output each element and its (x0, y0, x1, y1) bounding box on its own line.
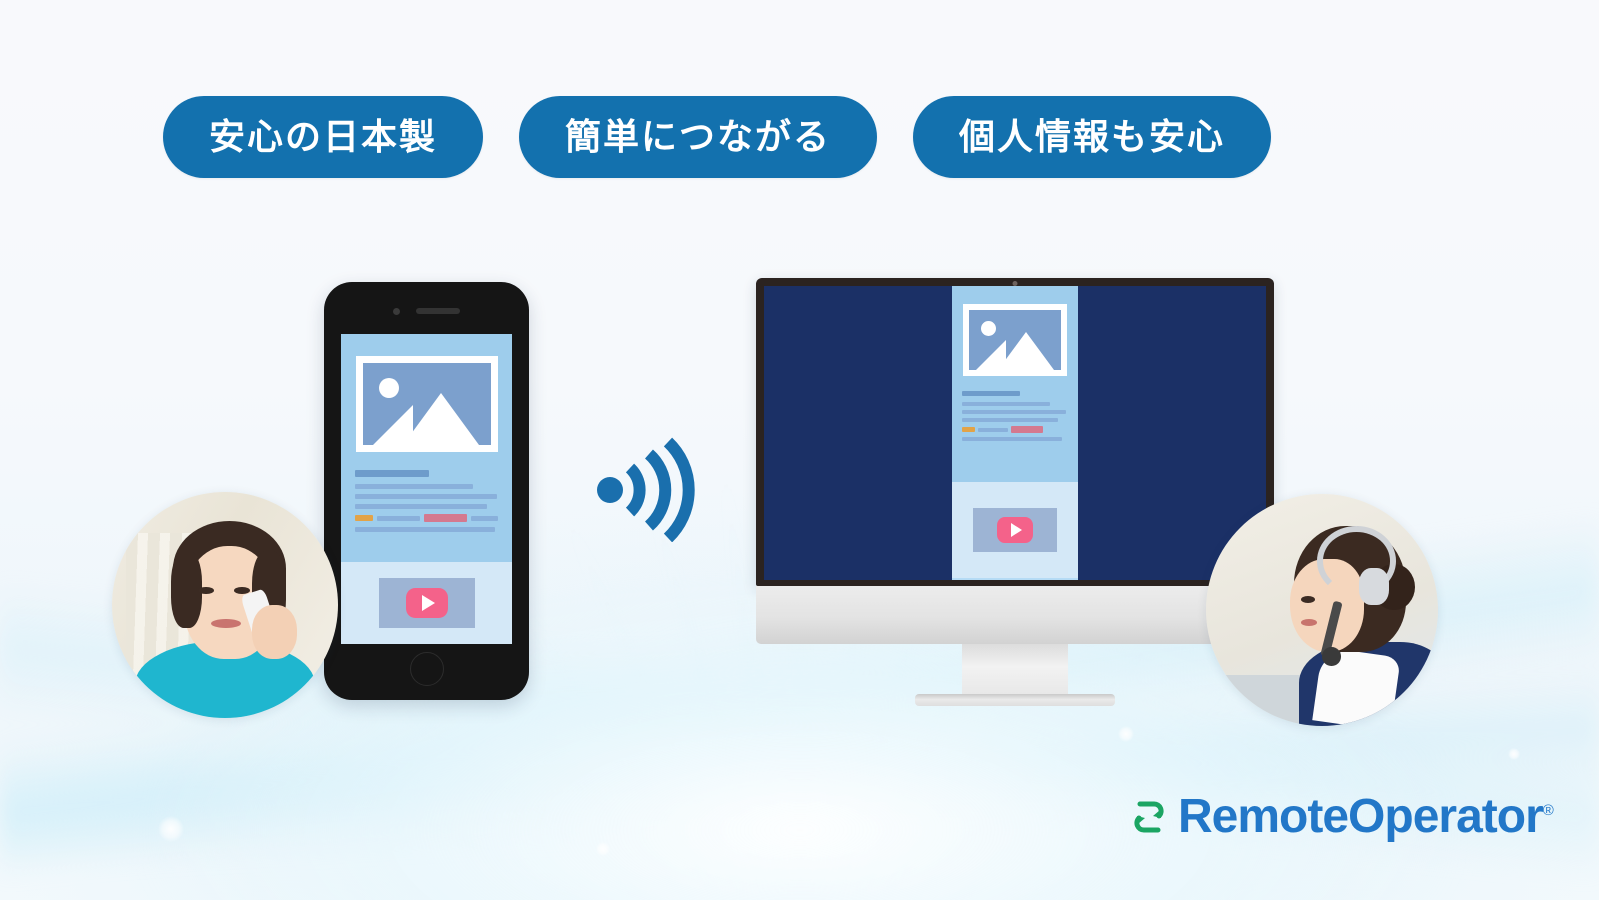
image-placeholder-icon (356, 356, 498, 452)
phone-text-lines (355, 470, 498, 532)
logo-wordmark: RemoteOperator® (1178, 793, 1553, 841)
mirror-page-bottom (952, 482, 1078, 578)
promo-banner: 安心の日本製 簡単につながる 個人情報も安心 (0, 0, 1599, 900)
phone-page-top (341, 334, 512, 562)
bokeh-dot (1508, 748, 1520, 760)
phone-top-bezel (324, 304, 529, 318)
bokeh-dot (158, 816, 184, 842)
monitor-chin (756, 586, 1274, 644)
monitor-stand-base (915, 694, 1115, 706)
mirror-text-lines (962, 391, 1068, 441)
image-placeholder-icon (963, 304, 1067, 376)
logo-text-label: RemoteOperator (1178, 790, 1543, 843)
brand-logo[interactable]: RemoteOperator® (1128, 793, 1553, 841)
operator-photo-right (1206, 494, 1438, 726)
wifi-signal-icon (592, 432, 702, 542)
video-thumbnail[interactable] (973, 508, 1057, 552)
play-icon[interactable] (997, 517, 1033, 543)
feature-badges: 安心の日本製 簡単につながる 個人情報も安心 (163, 96, 1271, 178)
home-button[interactable] (410, 652, 444, 686)
speaker-grille-icon (416, 308, 460, 314)
bokeh-dot (596, 842, 610, 856)
badge-privacy-safe[interactable]: 個人情報も安心 (913, 96, 1271, 178)
phone-page-bottom (341, 562, 512, 644)
monitor-stand-neck (962, 644, 1068, 700)
badge-label: 安心の日本製 (209, 119, 437, 155)
badge-label: 簡単につながる (565, 119, 831, 155)
video-thumbnail[interactable] (379, 578, 475, 628)
registered-trademark-symbol: ® (1543, 802, 1553, 819)
desktop-monitor[interactable] (756, 278, 1274, 698)
monitor-bezel (756, 278, 1274, 586)
badge-easy-connect[interactable]: 簡単につながる (519, 96, 877, 178)
phone-screen[interactable] (341, 334, 512, 644)
mirror-page-top (952, 286, 1078, 482)
badge-label: 個人情報も安心 (959, 119, 1225, 155)
smartphone[interactable] (324, 282, 529, 700)
play-icon[interactable] (406, 588, 448, 618)
phone-mirror-panel (952, 286, 1078, 580)
cycle-arrows-icon (1128, 796, 1170, 838)
bokeh-dot (1118, 726, 1134, 742)
camera-icon (393, 308, 400, 315)
operator-photo-left (112, 492, 338, 718)
monitor-screen[interactable] (764, 286, 1266, 580)
badge-made-in-japan[interactable]: 安心の日本製 (163, 96, 483, 178)
